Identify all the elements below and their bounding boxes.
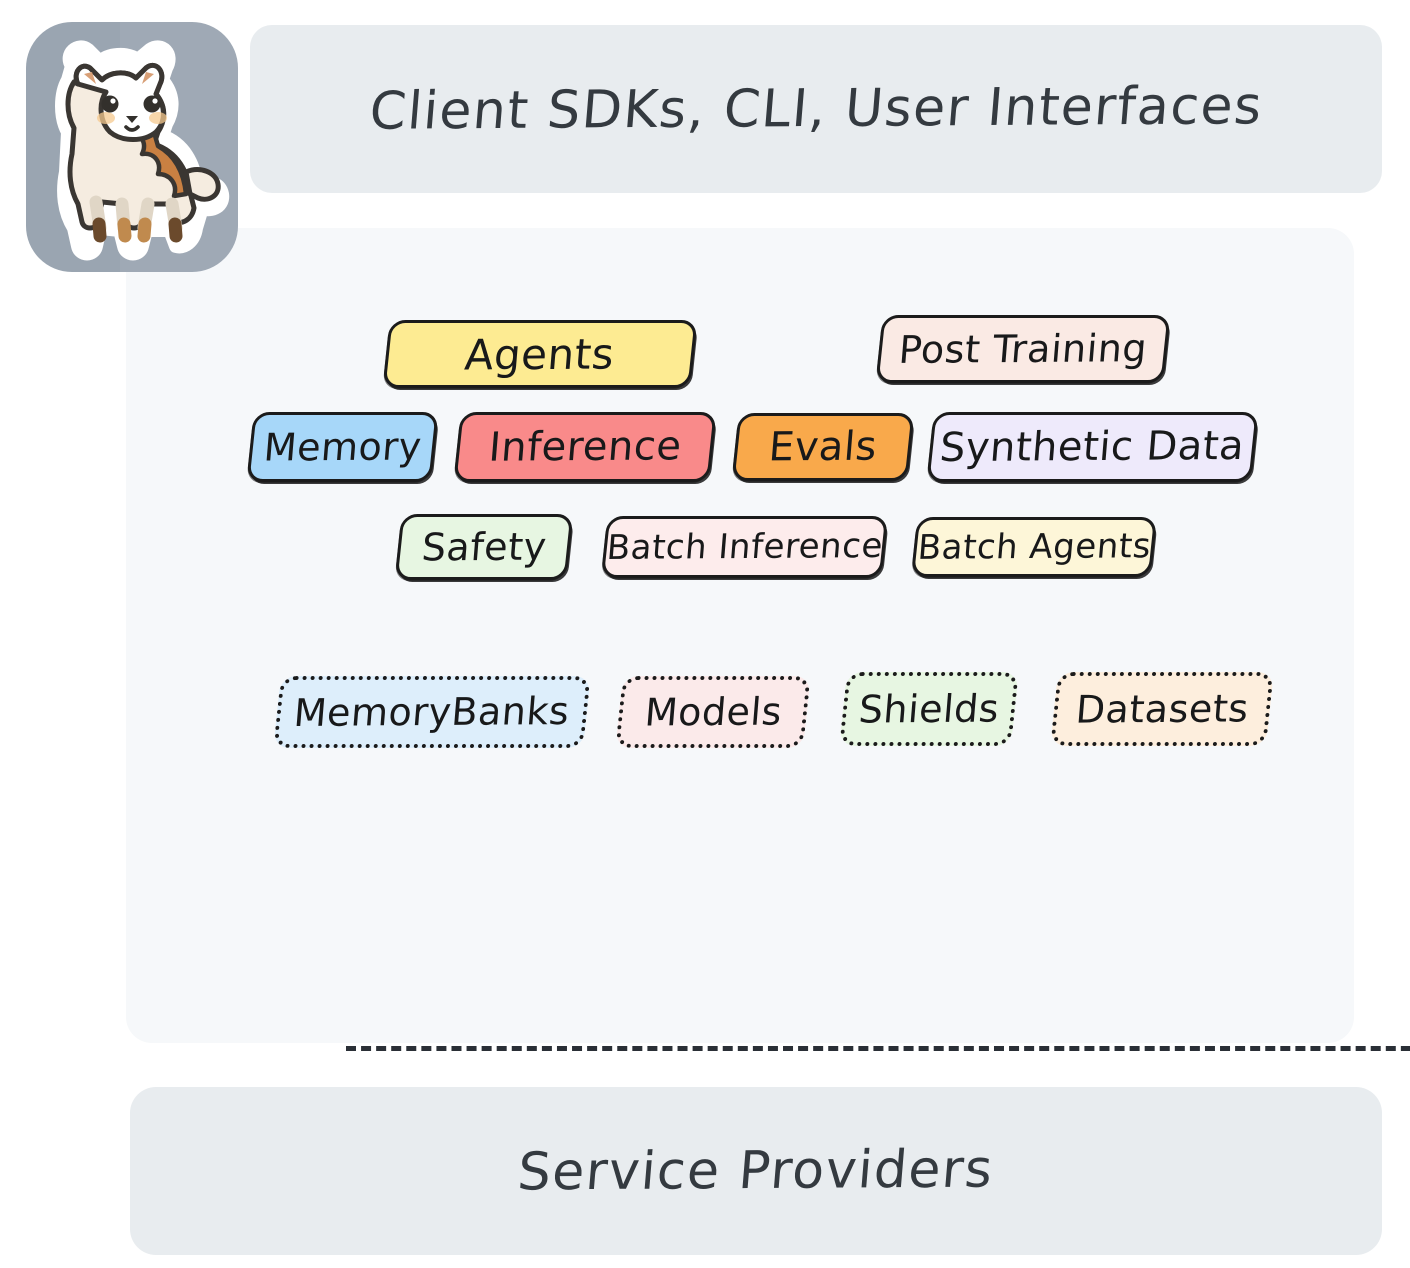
api-box-models[interactable]: Models — [615, 676, 811, 748]
api-box-batch-inference[interactable]: Batch Inference — [601, 516, 889, 578]
api-box-label: Models — [643, 690, 784, 735]
api-box-label: Datasets — [1074, 686, 1250, 731]
api-box-memory[interactable]: Memory — [246, 412, 438, 482]
api-box-safety[interactable]: Safety — [395, 514, 574, 580]
api-box-label: Shields — [857, 687, 1001, 732]
api-box-inference[interactable]: Inference — [453, 412, 716, 482]
api-box-label: Agents — [463, 329, 616, 379]
api-box-label: Inference — [487, 423, 683, 470]
api-box-label: Batch Agents — [916, 526, 1152, 568]
api-box-label: Memory — [262, 424, 423, 469]
llama-logo-badge — [26, 22, 238, 272]
api-box-datasets[interactable]: Datasets — [1050, 672, 1274, 746]
client-layer-title: Client SDKs, CLI, User Interfaces — [367, 76, 1265, 141]
api-box-memorybanks[interactable]: MemoryBanks — [273, 676, 591, 748]
client-layer-band: Client SDKs, CLI, User Interfaces — [250, 25, 1382, 193]
layer-separator — [346, 1046, 1410, 1051]
api-box-evals[interactable]: Evals — [731, 413, 914, 481]
api-box-synthetic-data[interactable]: Synthetic Data — [926, 412, 1258, 482]
llama-icon — [34, 32, 230, 264]
api-box-batch-agents[interactable]: Batch Agents — [911, 517, 1157, 577]
api-box-label: Synthetic Data — [939, 423, 1247, 471]
api-box-shields[interactable]: Shields — [839, 672, 1019, 746]
service-providers-band: Service Providers — [130, 1087, 1382, 1255]
api-box-label: MemoryBanks — [292, 689, 571, 735]
api-box-label: Post Training — [897, 326, 1149, 372]
api-box-label: Evals — [767, 424, 879, 471]
api-box-agents[interactable]: Agents — [382, 320, 697, 388]
service-providers-title: Service Providers — [516, 1140, 997, 1203]
llama-stack-container: Telemetry AgentsPost TrainingMemoryInfer… — [126, 228, 1354, 1043]
api-box-post-training[interactable]: Post Training — [875, 315, 1170, 383]
api-box-label: Batch Inference — [605, 526, 884, 568]
api-box-label: Safety — [420, 525, 548, 570]
